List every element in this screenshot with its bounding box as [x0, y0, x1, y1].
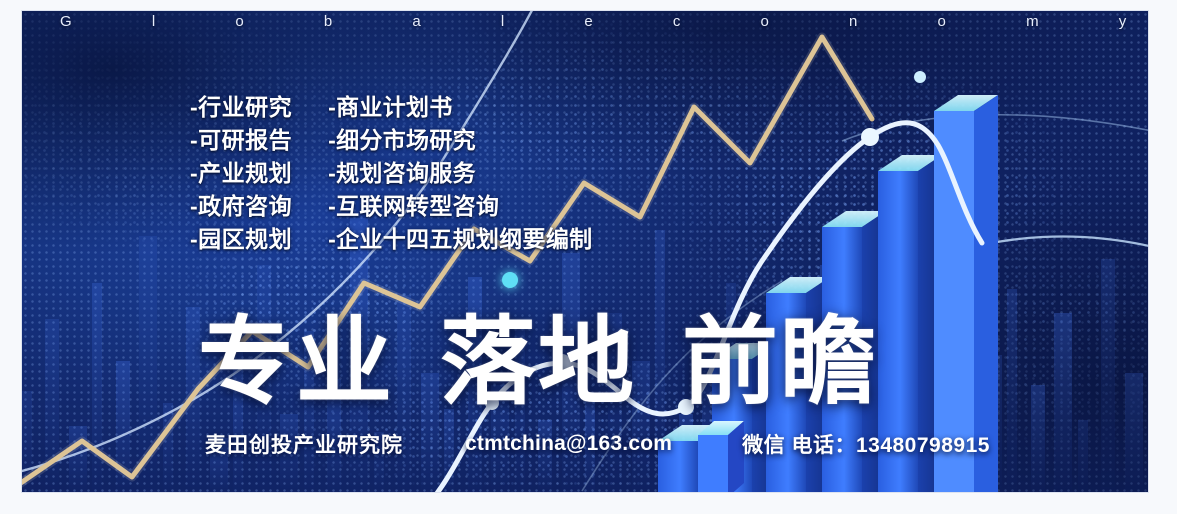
wechat-phone: 微信 电话：13480798915	[742, 429, 990, 459]
service-item: -可研报告	[190, 126, 292, 154]
service-item: -产业规划	[190, 159, 292, 187]
organization-name: 麦田创投产业研究院	[205, 429, 403, 459]
headline-word-3: 前瞻	[682, 311, 878, 415]
service-item: -园区规划	[190, 225, 292, 253]
service-column-right: -商业计划书 -细分市场研究 -规划咨询服务 -互联网转型咨询 -企业十四五规划…	[328, 93, 592, 253]
service-column-left: -行业研究 -可研报告 -产业规划 -政府咨询 -园区规划	[190, 93, 292, 253]
service-item: -互联网转型咨询	[328, 192, 592, 220]
promo-banner: G l o b a l e c o n o m y -行业研究 -可研报告 -产…	[22, 11, 1148, 492]
service-item: -规划咨询服务	[328, 159, 592, 187]
service-item: -商业计划书	[328, 93, 592, 121]
email-address[interactable]: ctmtchina@163.com	[465, 432, 672, 456]
page-title: 专业 落地 前瞻	[198, 311, 878, 415]
service-item: -细分市场研究	[328, 126, 592, 154]
headline-word-1: 专业	[198, 311, 394, 415]
headline-word-2: 落地	[440, 311, 636, 415]
contact-bar: 麦田创投产业研究院 ctmtchina@163.com 微信 电话：134807…	[205, 429, 990, 459]
service-item: -行业研究	[190, 93, 292, 121]
service-item: -政府咨询	[190, 192, 292, 220]
screenshot-root: G l o b a l e c o n o m y -行业研究 -可研报告 -产…	[0, 0, 1177, 514]
service-lists: -行业研究 -可研报告 -产业规划 -政府咨询 -园区规划 -商业计划书 -细分…	[190, 93, 592, 253]
service-item: -企业十四五规划纲要编制	[328, 225, 592, 253]
